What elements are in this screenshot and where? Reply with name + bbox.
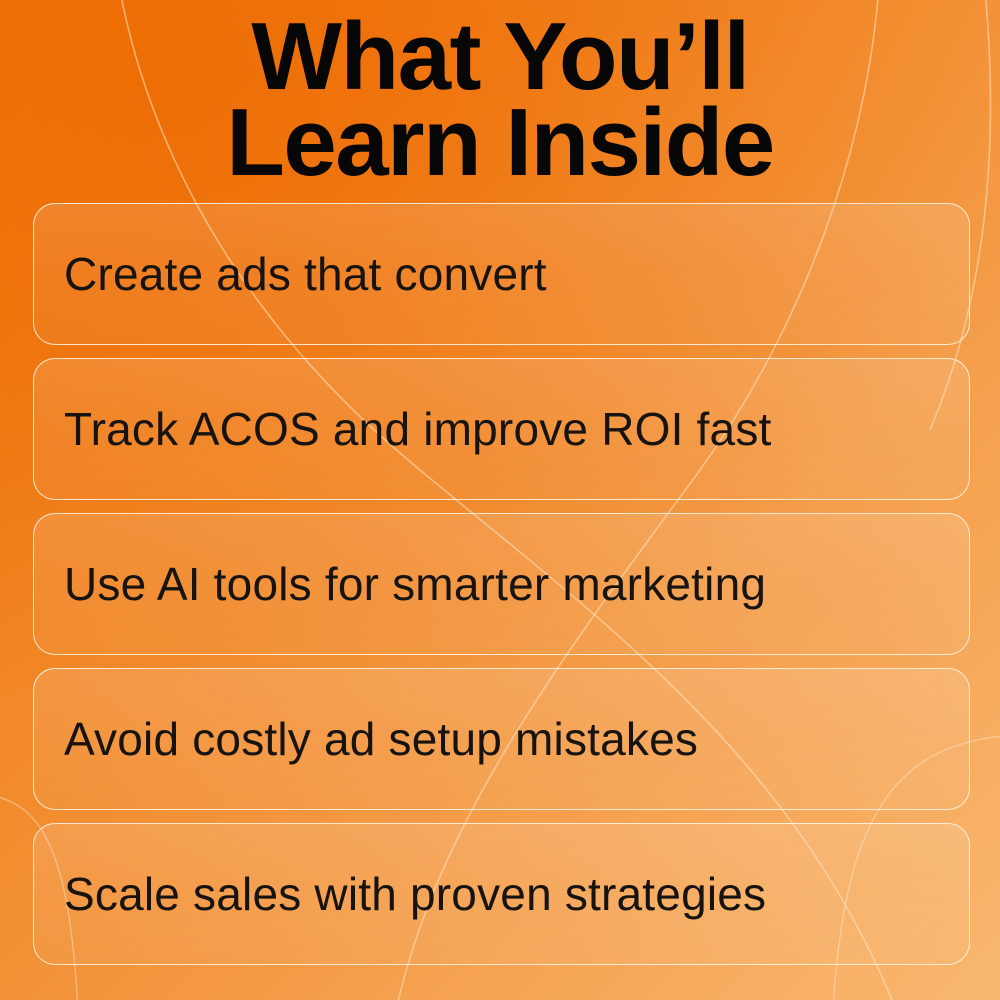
benefits-list: Create ads that convert Track ACOS and i… bbox=[33, 203, 970, 965]
benefit-label: Avoid costly ad setup mistakes bbox=[64, 713, 698, 765]
list-item[interactable]: Create ads that convert bbox=[33, 203, 970, 345]
benefit-label: Track ACOS and improve ROI fast bbox=[64, 403, 772, 455]
page-title: What You’ll Learn Inside bbox=[0, 14, 1000, 186]
benefit-label: Use AI tools for smarter marketing bbox=[64, 558, 766, 610]
benefit-label: Scale sales with proven strategies bbox=[64, 868, 766, 920]
list-item[interactable]: Avoid costly ad setup mistakes bbox=[33, 668, 970, 810]
list-item[interactable]: Scale sales with proven strategies bbox=[33, 823, 970, 965]
list-item[interactable]: Use AI tools for smarter marketing bbox=[33, 513, 970, 655]
list-item[interactable]: Track ACOS and improve ROI fast bbox=[33, 358, 970, 500]
benefit-label: Create ads that convert bbox=[64, 248, 547, 300]
promo-poster: What You’ll Learn Inside Create ads that… bbox=[0, 0, 1000, 1000]
